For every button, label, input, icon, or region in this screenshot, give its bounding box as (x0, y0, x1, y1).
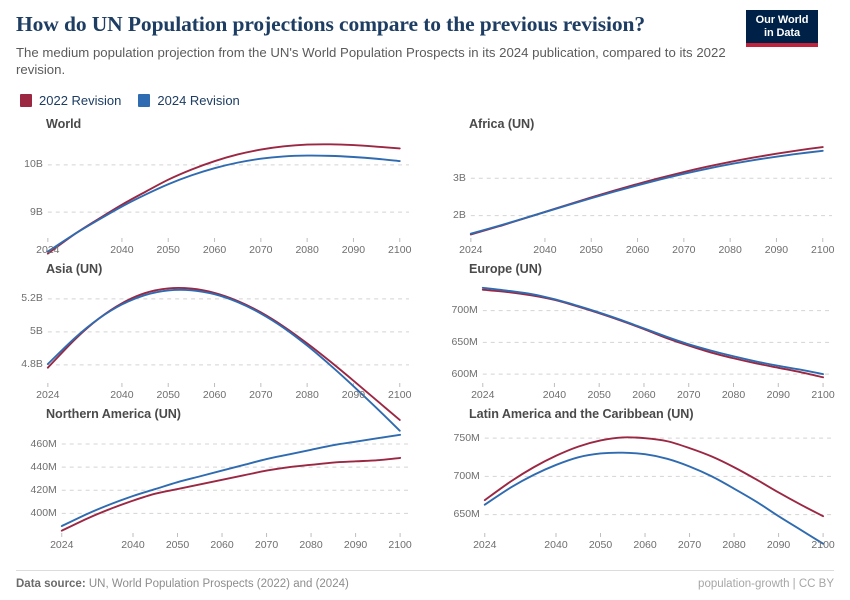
x-axis-tick-label: 2090 (344, 539, 367, 551)
y-axis-tick-label: 10B (16, 158, 43, 170)
x-axis-tick-label: 2024 (50, 539, 73, 551)
x-axis-tick-label: 2050 (588, 389, 611, 401)
y-axis-tick-label: 440M (16, 461, 57, 473)
x-axis-tick-label: 2040 (533, 244, 556, 256)
series-line (471, 150, 823, 233)
x-axis-tick-label: 2100 (811, 539, 834, 551)
x-axis-tick-label: 2080 (718, 244, 741, 256)
y-axis-tick-label: 650M (439, 336, 478, 348)
x-axis-tick-label: 2040 (121, 539, 144, 551)
y-axis-tick-label: 3B (439, 172, 466, 184)
x-axis-tick-label: 2080 (299, 539, 322, 551)
x-axis-tick-label: 2100 (388, 539, 411, 551)
page-subtitle: The medium population projection from th… (16, 44, 751, 79)
panel-title: Africa (UN) (439, 117, 834, 131)
x-axis-tick-label: 2040 (543, 389, 566, 401)
plot-area[interactable]: 600M650M700M2024204020502060207020802090… (439, 278, 834, 405)
plot-svg (439, 423, 834, 555)
x-axis-tick-label: 2070 (677, 389, 700, 401)
x-axis-tick-label: 2060 (210, 539, 233, 551)
x-axis-tick-label: 2024 (473, 539, 496, 551)
chart-panel: Latin America and the Caribbean (UN)650M… (439, 407, 834, 557)
header: How do UN Population projections compare… (16, 0, 834, 79)
x-axis-tick-label: 2070 (249, 244, 272, 256)
x-axis-tick-label: 2080 (722, 539, 745, 551)
y-axis-tick-label: 5B (16, 325, 43, 337)
y-axis-tick-label: 420M (16, 484, 57, 496)
y-axis-tick-label: 750M (439, 432, 480, 444)
x-axis-tick-label: 2060 (626, 244, 649, 256)
owid-logo[interactable]: Our World in Data (746, 10, 818, 47)
y-axis-tick-label: 460M (16, 438, 57, 450)
chart-footer: Data source: UN, World Population Prospe… (16, 570, 834, 590)
x-axis-tick-label: 2100 (811, 244, 834, 256)
x-axis-tick-label: 2100 (388, 389, 411, 401)
legend-item[interactable]: 2024 Revision (138, 93, 239, 108)
plot-area[interactable]: 2B3B20242040205020602070208020902100 (439, 133, 834, 260)
chart-panel: World9B10B202420402050206020702080209021… (16, 117, 411, 262)
footer-attribution[interactable]: population-growth | CC BY (698, 578, 834, 590)
y-axis-tick-label: 4.8B (16, 358, 43, 370)
x-axis-tick-label: 2060 (632, 389, 655, 401)
y-axis-tick-label: 2B (439, 209, 466, 221)
legend-label: 2024 Revision (157, 93, 239, 108)
chart-legend: 2022 Revision2024 Revision (16, 93, 834, 108)
x-axis-tick-label: 2070 (678, 539, 701, 551)
x-axis-tick-label: 2024 (459, 244, 482, 256)
plot-svg (16, 133, 411, 260)
plot-area[interactable]: 4.8B5B5.2B202420402050206020702080209021… (16, 278, 411, 405)
chart-panel: Europe (UN)600M650M700M20242040205020602… (439, 262, 834, 407)
legend-label: 2022 Revision (39, 93, 121, 108)
x-axis-tick-label: 2050 (157, 389, 180, 401)
y-axis-tick-label: 700M (439, 304, 478, 316)
series-line (48, 144, 400, 253)
plot-svg (16, 278, 411, 405)
x-axis-tick-label: 2070 (672, 244, 695, 256)
legend-swatch-icon (138, 94, 150, 107)
x-axis-tick-label: 2040 (544, 539, 567, 551)
panel-title: World (16, 117, 411, 131)
x-axis-tick-label: 2050 (166, 539, 189, 551)
series-line (483, 287, 823, 373)
legend-item[interactable]: 2022 Revision (20, 93, 121, 108)
x-axis-tick-label: 2090 (342, 244, 365, 256)
x-axis-tick-label: 2070 (255, 539, 278, 551)
x-axis-tick-label: 2090 (767, 389, 790, 401)
plot-svg (439, 278, 834, 405)
x-axis-tick-label: 2100 (811, 389, 834, 401)
x-axis-tick-label: 2060 (633, 539, 656, 551)
owid-logo-line1: Our World (746, 14, 818, 27)
x-axis-tick-label: 2060 (203, 244, 226, 256)
y-axis-tick-label: 600M (439, 368, 478, 380)
x-axis-tick-label: 2024 (36, 244, 59, 256)
y-axis-tick-label: 400M (16, 507, 57, 519)
x-axis-tick-label: 2050 (580, 244, 603, 256)
x-axis-tick-label: 2040 (110, 244, 133, 256)
x-axis-tick-label: 2060 (203, 389, 226, 401)
data-source: Data source: UN, World Population Prospe… (16, 578, 349, 590)
x-axis-tick-label: 2090 (342, 389, 365, 401)
x-axis-tick-label: 2050 (157, 244, 180, 256)
y-axis-tick-label: 9B (16, 206, 43, 218)
chart-page: How do UN Population projections compare… (0, 0, 850, 600)
facet-grid: World9B10B202420402050206020702080209021… (16, 117, 834, 557)
panel-title: Europe (UN) (439, 262, 834, 276)
data-source-text: UN, World Population Prospects (2022) an… (89, 578, 349, 590)
x-axis-tick-label: 2024 (471, 389, 494, 401)
plot-area[interactable]: 650M700M750M2024204020502060207020802090… (439, 423, 834, 555)
y-axis-tick-label: 700M (439, 470, 480, 482)
x-axis-tick-label: 2080 (722, 389, 745, 401)
series-line (48, 155, 400, 251)
owid-logo-line2: in Data (746, 27, 818, 40)
panel-title: Latin America and the Caribbean (UN) (439, 407, 834, 421)
y-axis-tick-label: 650M (439, 508, 480, 520)
x-axis-tick-label: 2024 (36, 389, 59, 401)
y-axis-tick-label: 5.2B (16, 292, 43, 304)
x-axis-tick-label: 2080 (295, 244, 318, 256)
page-title: How do UN Population projections compare… (16, 12, 834, 37)
x-axis-tick-label: 2080 (295, 389, 318, 401)
plot-area[interactable]: 400M420M440M460M202420402050206020702080… (16, 423, 411, 555)
legend-swatch-icon (20, 94, 32, 107)
chart-panel: Northern America (UN)400M420M440M460M202… (16, 407, 411, 557)
plot-area[interactable]: 9B10B20242040205020602070208020902100 (16, 133, 411, 260)
chart-panel: Asia (UN)4.8B5B5.2B202420402050206020702… (16, 262, 411, 407)
data-source-label: Data source: (16, 578, 86, 590)
panel-title: Northern America (UN) (16, 407, 411, 421)
panel-title: Asia (UN) (16, 262, 411, 276)
x-axis-tick-label: 2090 (767, 539, 790, 551)
x-axis-tick-label: 2090 (765, 244, 788, 256)
plot-svg (439, 133, 834, 260)
plot-svg (16, 423, 411, 555)
chart-panel: Africa (UN)2B3B2024204020502060207020802… (439, 117, 834, 262)
x-axis-tick-label: 2100 (388, 244, 411, 256)
x-axis-tick-label: 2050 (589, 539, 612, 551)
x-axis-tick-label: 2070 (249, 389, 272, 401)
x-axis-tick-label: 2040 (110, 389, 133, 401)
series-line (471, 147, 823, 234)
series-line (62, 434, 400, 525)
